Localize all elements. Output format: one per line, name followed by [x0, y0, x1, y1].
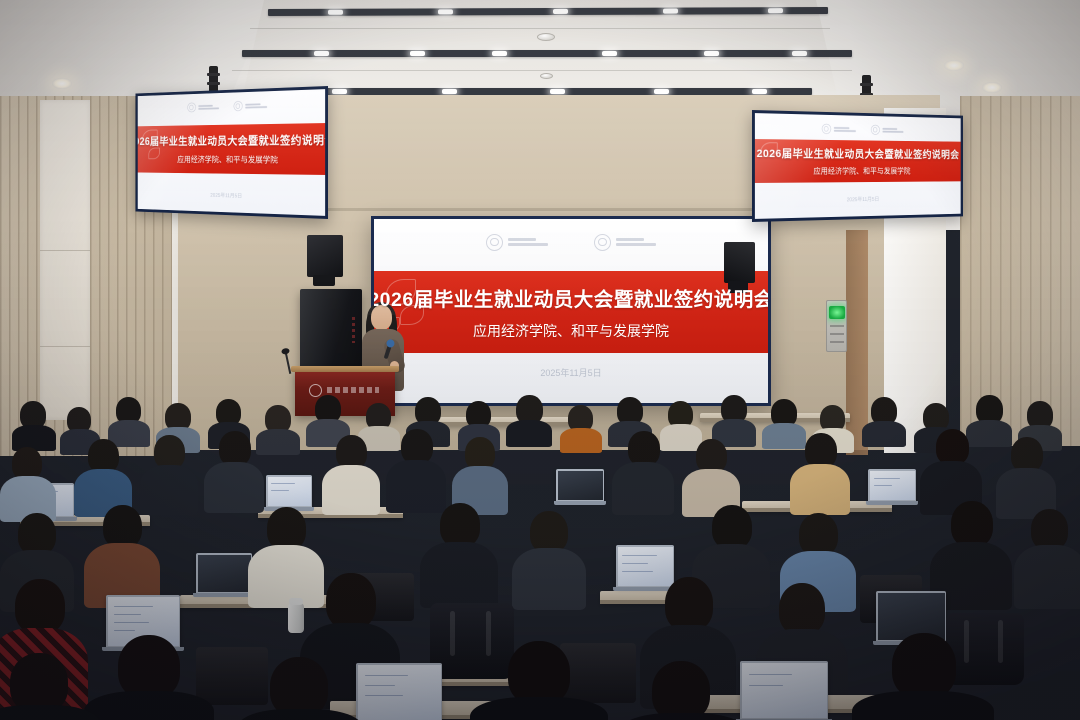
- audience-area: [0, 395, 1080, 720]
- university-logo-icon: [871, 125, 903, 135]
- laptop: [740, 661, 828, 719]
- slide-red-banner: 2026届毕业生就业动员大会暨就业签约说明会 应用经济学院、和平与发展学院: [374, 271, 768, 353]
- audience-member: [470, 641, 608, 720]
- slide-date: 2025年11月5日: [374, 366, 768, 379]
- audience-member: [682, 439, 740, 515]
- audience-member: [790, 433, 850, 513]
- slide-date: 2025年11月5日: [138, 189, 325, 202]
- laptop: [356, 663, 442, 720]
- audience-member: [862, 397, 906, 445]
- slide-subtitle: 应用经济学院、和平与发展学院: [473, 321, 669, 341]
- right-wall-tv: 2026届毕业生就业动员大会暨就业签约说明会 应用经济学院、和平与发展学院 20…: [752, 110, 963, 222]
- audience-member: [512, 511, 586, 607]
- emergency-exit-sign: [826, 300, 847, 352]
- audience-member: [322, 435, 380, 513]
- audience-member: [386, 429, 446, 511]
- ceiling-light-strip: [282, 88, 812, 95]
- audience-member: [84, 505, 160, 605]
- laptop: [868, 469, 916, 501]
- university-logo-icon: [594, 234, 656, 251]
- lecture-hall-photo: 2026届毕业生就业动员大会暨就业签约说明会 应用经济学院、和平与发展学院 20…: [0, 0, 1080, 720]
- audience-member: [560, 405, 602, 451]
- wall-loudspeaker-left: [307, 235, 343, 277]
- slide-university-logos: [797, 123, 924, 137]
- slide-subtitle: 应用经济学院、和平与发展学院: [177, 154, 278, 166]
- wall-loudspeaker-right: [724, 242, 755, 283]
- university-logo-icon: [486, 234, 548, 251]
- laptop: [556, 469, 604, 501]
- wall-flat-panel-left: [40, 100, 90, 420]
- audience-member: [204, 431, 264, 511]
- slide-red-banner: 2026届毕业生就业动员大会暨就业签约说明会 应用经济学院、和平与发展学院: [755, 139, 961, 183]
- audience-member: [1014, 509, 1080, 607]
- main-projection-screen: 2026届毕业生就业动员大会暨就业签约说明会 应用经济学院、和平与发展学院 20…: [371, 216, 771, 406]
- left-wall-tv: 2026届毕业生就业动员大会暨就业签约说明会 应用经济学院、和平与发展学院 20…: [135, 86, 328, 219]
- audience-member: [0, 653, 100, 720]
- slide-red-banner: 2026届毕业生就业动员大会暨就业签约说明会 应用经济学院、和平与发展学院: [138, 123, 325, 175]
- ceiling-downlight: [52, 78, 72, 89]
- university-logo-icon: [187, 102, 219, 113]
- podium-nameplate: [327, 387, 379, 393]
- audience-member: [0, 447, 56, 519]
- ceiling-downlight: [944, 60, 964, 71]
- university-logo-icon: [821, 124, 855, 135]
- slide-university-logos: [374, 227, 768, 257]
- exit-light-icon: [829, 306, 845, 319]
- audience-member: [712, 395, 756, 445]
- audience-member: [452, 437, 508, 513]
- ceiling-light-strip: [242, 50, 852, 57]
- smoke-detector-icon: [540, 73, 553, 79]
- wall-slats-right: [960, 96, 1080, 446]
- slide-title: 2026届毕业生就业动员大会暨就业签约说明会: [374, 283, 768, 312]
- audience-member: [74, 439, 132, 515]
- smoke-detector-icon: [537, 33, 555, 41]
- audience-member: [238, 657, 362, 720]
- laptop: [266, 475, 312, 507]
- slide-subtitle: 应用经济学院、和平与发展学院: [813, 166, 910, 177]
- audience-member: [612, 431, 674, 513]
- slide-title: 2026届毕业生就业动员大会暨就业签约说明会: [757, 145, 960, 161]
- audience-member: [84, 635, 214, 720]
- slide-university-logos: [170, 99, 286, 113]
- ceiling-downlight: [982, 82, 1002, 93]
- audience-member: [620, 661, 746, 720]
- audience-member: [420, 503, 498, 605]
- audience-member: [12, 401, 56, 449]
- university-logo-icon: [233, 100, 266, 111]
- audience-member: [852, 633, 994, 720]
- audience-member: [506, 395, 552, 445]
- slide-date: 2025年11月5日: [755, 194, 961, 205]
- slide-title: 2026届毕业生就业动员大会暨就业签约说明会: [138, 132, 325, 149]
- laptop: [196, 553, 252, 593]
- audience-member: [140, 435, 198, 513]
